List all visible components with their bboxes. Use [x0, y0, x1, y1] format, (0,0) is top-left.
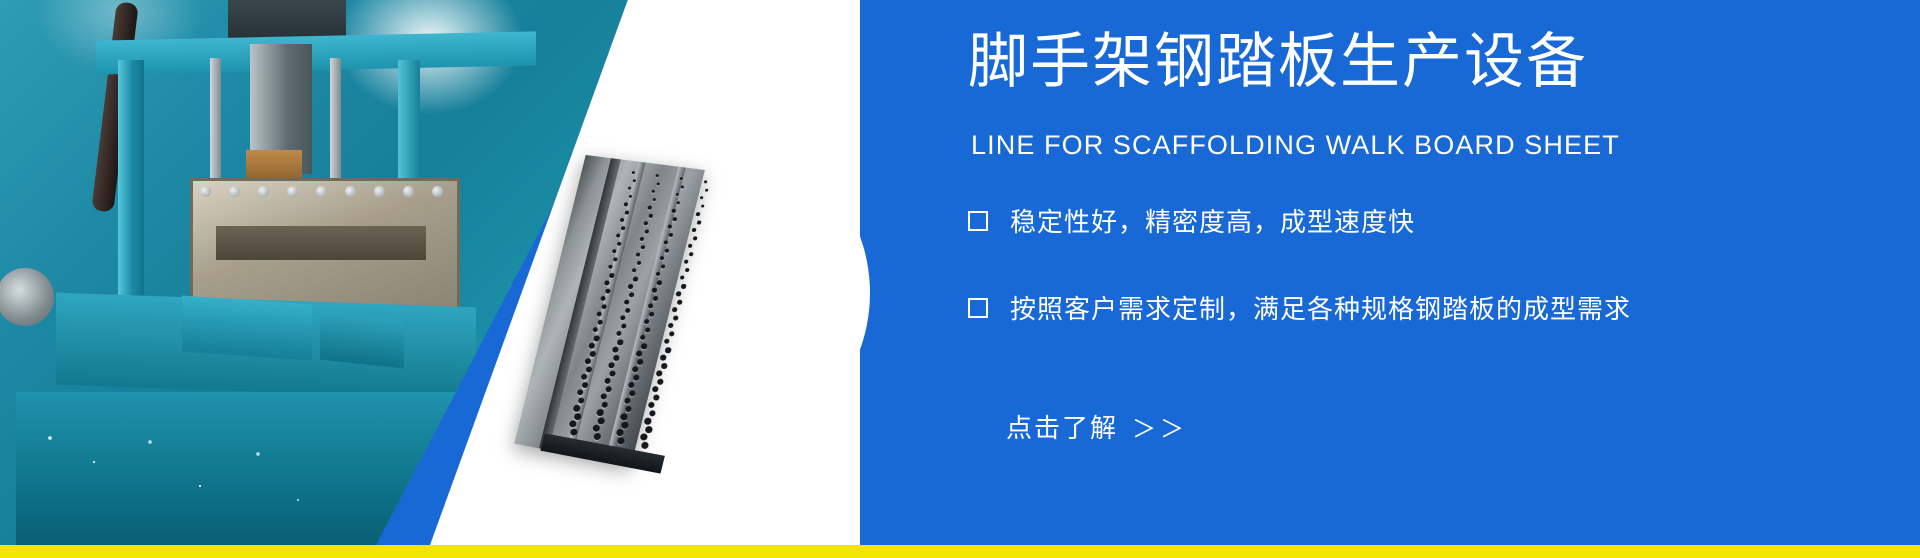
- metal-debris-shape: [30, 420, 330, 530]
- learn-more-link[interactable]: 点击了解 ＞＞: [1006, 408, 1188, 445]
- right-column-shape: [398, 60, 420, 180]
- feature-item: 稳定性好，精密度高，成型速度快: [968, 202, 1868, 239]
- base-block-one-shape: [182, 295, 312, 360]
- die-slot-shape: [216, 226, 426, 260]
- feature-item-label: 稳定性好，精密度高，成型速度快: [1010, 202, 1415, 239]
- promo-banner: 脚手架钢踏板生产设备 LINE FOR SCAFFOLDING WALK BOA…: [0, 0, 1920, 558]
- banner-title: 脚手架钢踏板生产设备: [968, 30, 1588, 95]
- feature-item-label: 按照客户需求定制，满足各种规格钢踏板的成型需求: [1010, 289, 1631, 326]
- feature-list: 稳定性好，精密度高，成型速度快 按照客户需求定制，满足各种规格钢踏板的成型需求: [968, 202, 1868, 376]
- guide-rod-left-shape: [210, 58, 221, 188]
- square-bullet-icon: [968, 211, 988, 231]
- handwheel-shape: [0, 268, 54, 326]
- learn-more-label: 点击了解: [1006, 408, 1118, 445]
- banner-content: 脚手架钢踏板生产设备 LINE FOR SCAFFOLDING WALK BOA…: [968, 0, 1868, 545]
- plank-body-shape: [514, 155, 705, 466]
- bottom-accent-strip: [0, 545, 1920, 558]
- guide-rod-right-shape: [330, 58, 341, 188]
- base-block-two-shape: [320, 312, 404, 369]
- square-bullet-icon: [968, 298, 988, 318]
- banner-subtitle: LINE FOR SCAFFOLDING WALK BOARD SHEET: [971, 130, 1620, 161]
- feature-item: 按照客户需求定制，满足各种规格钢踏板的成型需求: [968, 289, 1868, 326]
- double-chevron-right-icon: ＞＞: [1132, 409, 1188, 444]
- bolt-row-shape: [200, 186, 450, 198]
- top-beam-shape: [96, 31, 536, 74]
